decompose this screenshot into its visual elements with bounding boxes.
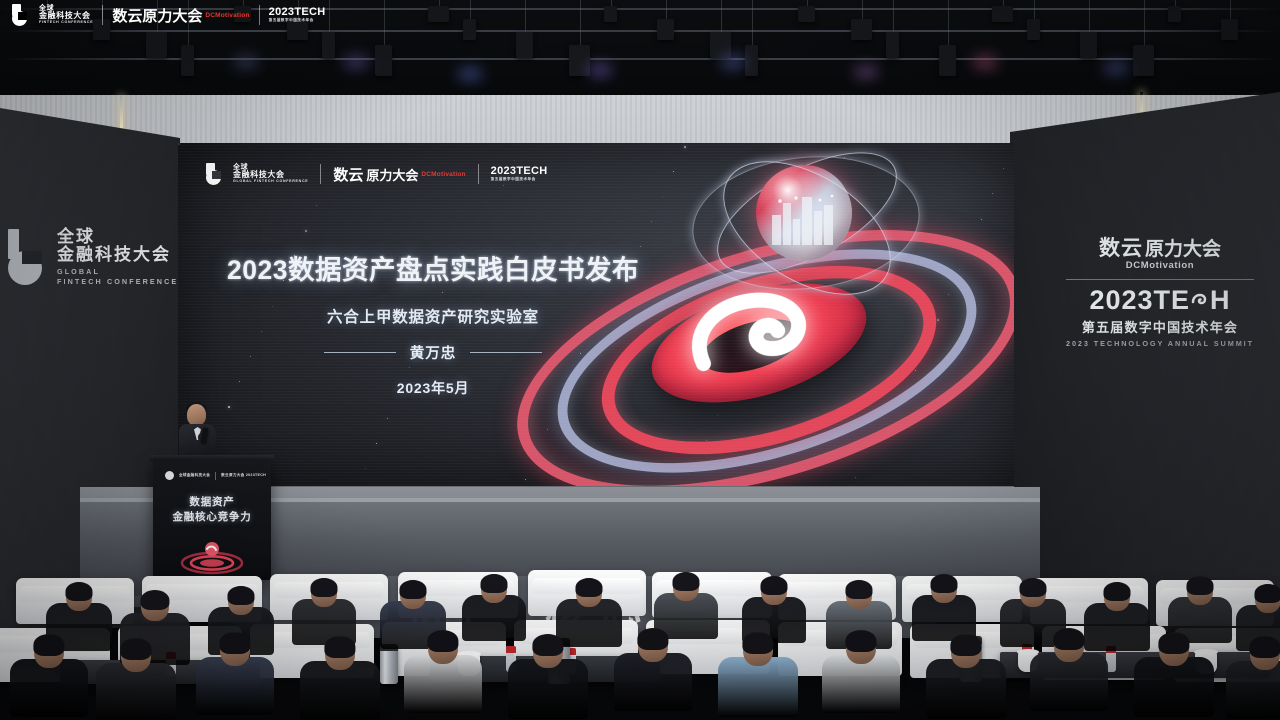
left-wall-signage: 全球 金融科技大会 GLOBAL FINTECH CONFERENCE bbox=[8, 228, 178, 286]
audience-hair bbox=[575, 578, 602, 597]
audience-area: 中国进出口银行 中信银行 中信银行 bbox=[0, 520, 1280, 720]
stage-light bbox=[146, 32, 167, 58]
conference-stage-scene: 全球 金融科技大会 FINTECH CONFERENCE 数云原力大会 DCMo… bbox=[0, 0, 1280, 720]
stage-light bbox=[1133, 45, 1154, 76]
podium-line-1: 数据资产 bbox=[153, 495, 271, 510]
stage-light bbox=[1168, 6, 1181, 22]
audience-member bbox=[718, 632, 798, 720]
galaxy-graphic bbox=[478, 153, 1014, 483]
stage-light bbox=[604, 6, 617, 22]
right-sign-tech-a: TE bbox=[1154, 285, 1191, 315]
audience-hair bbox=[480, 574, 507, 593]
audience-hair bbox=[33, 634, 64, 656]
stage-light bbox=[1221, 19, 1238, 40]
audience-hair bbox=[1254, 584, 1280, 603]
audience-torso bbox=[718, 657, 798, 717]
stage-light bbox=[798, 6, 815, 22]
audience-member bbox=[300, 636, 380, 720]
stage-light bbox=[516, 32, 533, 58]
right-sign-brand-en: DCMotivation bbox=[1060, 260, 1260, 271]
audience-torso bbox=[926, 659, 1006, 719]
overlay-divider bbox=[259, 5, 260, 25]
screen-dcm-cn-b: 原力大会 bbox=[366, 165, 418, 184]
stage-light bbox=[886, 32, 899, 58]
overlay-dcm-cn: 数云原力大会 bbox=[112, 5, 202, 26]
audience-torso bbox=[1226, 661, 1280, 719]
audience-member bbox=[1134, 632, 1214, 720]
audience-hair bbox=[219, 632, 250, 654]
right-sign-year: 2023 bbox=[1089, 285, 1153, 315]
audience-member bbox=[926, 634, 1006, 720]
audience-torso bbox=[1134, 657, 1214, 717]
audience-hair bbox=[1158, 632, 1189, 654]
audience-hair bbox=[227, 586, 254, 605]
overlay-dcm-logo: 数云原力大会 DCMotivation bbox=[112, 5, 249, 26]
left-sign-cn1: 全球 bbox=[57, 228, 178, 246]
audience-hair bbox=[310, 578, 337, 597]
audience-member bbox=[96, 638, 176, 720]
podium-logos: 全球金融科技大会 数云原力大会 2023TECH bbox=[165, 471, 266, 480]
right-sign-summit-en: 2023 TECHNOLOGY ANNUAL SUMMIT bbox=[1060, 339, 1260, 348]
audience-torso bbox=[508, 659, 588, 719]
audience-hair bbox=[1249, 636, 1280, 658]
overlay-tech-sub: 第五届数字中国技术年会 bbox=[269, 19, 326, 23]
audience-hair bbox=[950, 634, 981, 656]
screen-gfc-en: GLOBAL FINTECH CONFERENCE bbox=[233, 180, 308, 184]
right-wall-signage: 数云 原力大会 DCMotivation 2023TE H 第五届数字中国技术年… bbox=[1060, 232, 1260, 348]
screen-dcm-cn-a: 数云 bbox=[333, 164, 363, 185]
podium-logo-gfc: 全球金融科技大会 bbox=[179, 473, 210, 477]
podium-logo-dcm: 数云原力大会 2023TECH bbox=[221, 473, 266, 477]
stage-light bbox=[322, 32, 335, 58]
stage-light bbox=[463, 19, 476, 40]
audience-hair bbox=[1019, 578, 1046, 597]
left-sign-en2: FINTECH CONFERENCE bbox=[57, 278, 178, 286]
screen-logo-divider bbox=[320, 164, 321, 184]
screen-speaker-name: 黄万忠 bbox=[410, 342, 457, 363]
audience-hair bbox=[760, 576, 787, 595]
left-sign-cn2: 金融科技大会 bbox=[57, 246, 178, 264]
audience-member bbox=[1030, 628, 1108, 716]
audience-member bbox=[822, 630, 900, 718]
audience-hair bbox=[930, 574, 957, 593]
screen-dcm-en: DCMotivation bbox=[421, 171, 465, 178]
broadcast-logo-overlay: 全球 金融科技大会 FINTECH CONFERENCE 数云原力大会 DCMo… bbox=[12, 4, 325, 26]
stage-light bbox=[710, 32, 731, 58]
gfc-mark-icon bbox=[165, 471, 174, 480]
stage-light bbox=[992, 6, 1013, 22]
audience-hair bbox=[845, 580, 872, 599]
audience-hair bbox=[140, 590, 169, 610]
speaker-rule-left bbox=[324, 352, 396, 353]
screen-gfc-cn2: 金融科技大会 bbox=[233, 171, 308, 179]
right-sign-brand-b: 原力大会 bbox=[1145, 234, 1221, 261]
audience-hair bbox=[1053, 628, 1084, 650]
audience-member bbox=[1226, 636, 1280, 720]
audience-hair bbox=[1103, 582, 1130, 601]
audience-hair bbox=[399, 580, 426, 599]
gfc-mark-icon bbox=[206, 163, 228, 185]
audience-hair bbox=[672, 572, 699, 591]
audience-hair bbox=[532, 634, 563, 656]
overlay-divider bbox=[102, 5, 103, 25]
overlay-tech-logo: 2023TECH 第五届数字中国技术年会 bbox=[269, 7, 326, 22]
audience-hair bbox=[637, 628, 668, 650]
audience-hair bbox=[742, 632, 773, 654]
audience-hair bbox=[65, 582, 92, 601]
gfc-mark-icon bbox=[12, 4, 34, 26]
audience-member bbox=[508, 634, 588, 720]
speaker-head bbox=[187, 404, 206, 426]
gfc-mark-icon bbox=[8, 229, 48, 285]
left-sign-en1: GLOBAL bbox=[57, 268, 178, 276]
right-sign-brand-a: 数云 bbox=[1099, 232, 1143, 262]
stage-light bbox=[428, 6, 449, 22]
main-led-screen: 全球 金融科技大会 GLOBAL FINTECH CONFERENCE 数云 原… bbox=[178, 143, 1014, 488]
swirl-icon bbox=[1190, 289, 1210, 309]
stage-light bbox=[181, 45, 194, 76]
stage-light bbox=[851, 19, 872, 40]
podium-logo-divider bbox=[215, 472, 216, 480]
audience-hair bbox=[324, 636, 355, 658]
stage-light bbox=[745, 45, 758, 76]
overlay-gfc-logo: 全球 金融科技大会 FINTECH CONFERENCE bbox=[12, 4, 93, 26]
audience-member bbox=[10, 634, 88, 720]
overlay-gfc-en: FINTECH CONFERENCE bbox=[39, 21, 93, 25]
right-sign-summit-cn: 第五届数字中国技术年会 bbox=[1060, 317, 1260, 336]
audience-hair bbox=[845, 630, 876, 652]
overlay-dcm-en: DCMotivation bbox=[205, 12, 249, 19]
audience-member bbox=[614, 628, 692, 716]
overlay-gfc-cn2: 金融科技大会 bbox=[39, 12, 93, 20]
stage-light bbox=[657, 19, 674, 40]
audience-member bbox=[404, 630, 482, 718]
audience-hair bbox=[1186, 576, 1213, 595]
screen-dcm-logo: 数云 原力大会 DCMotivation bbox=[333, 164, 465, 185]
screen-gfc-logo: 全球 金融科技大会 GLOBAL FINTECH CONFERENCE bbox=[206, 163, 308, 185]
stage-light bbox=[939, 45, 956, 76]
audience-hair bbox=[120, 638, 151, 660]
right-sign-divider bbox=[1066, 279, 1254, 280]
right-sign-tech-b: H bbox=[1210, 285, 1231, 315]
stage-light bbox=[1027, 19, 1040, 40]
stage-light bbox=[1080, 32, 1097, 58]
stage-light bbox=[375, 45, 392, 76]
audience-hair bbox=[427, 630, 458, 652]
audience-member bbox=[196, 632, 274, 720]
